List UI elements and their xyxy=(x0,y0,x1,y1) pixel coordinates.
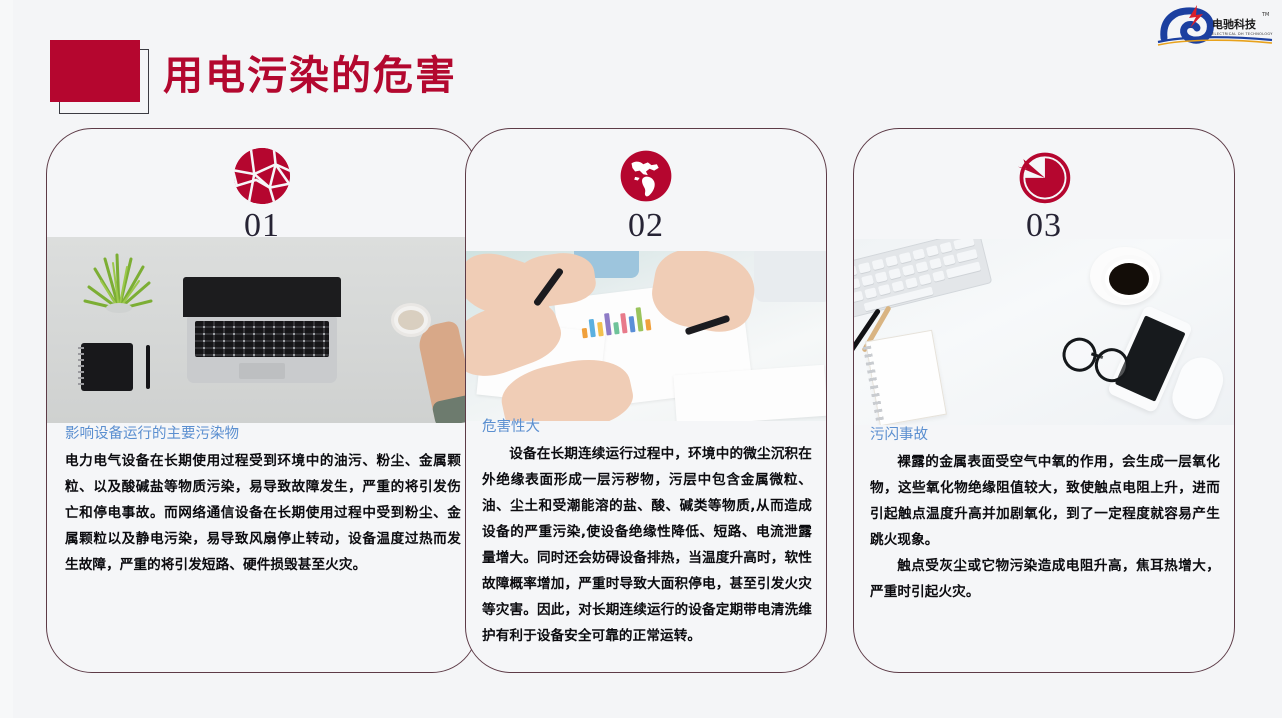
svg-text:ELECTRICAL DH TECHNOLOGY: ELECTRICAL DH TECHNOLOGY xyxy=(1212,32,1273,36)
card-02-number: 02 xyxy=(466,207,826,245)
card-03-subtitle: 污闪事故 xyxy=(870,425,1220,445)
card-03-body: 污闪事故 裸露的金属表面受空气中氧的作用，会生成一层氧化物，这些氧化物绝缘阻值较… xyxy=(854,425,1234,605)
title-accent-square xyxy=(50,40,140,102)
card-03-paragraph-1: 裸露的金属表面受空气中氧的作用，会生成一层氧化物，这些氧化物绝缘阻值较大，致使触… xyxy=(870,449,1220,553)
pen-graphic xyxy=(146,345,150,389)
card-01-subtitle: 影响设备运行的主要污染物 xyxy=(65,424,461,444)
content-card-03[interactable]: 03 xyxy=(853,128,1235,673)
coffee-cup-graphic xyxy=(1090,247,1160,305)
card-01-icon-wrap xyxy=(47,143,477,209)
svg-text:电驰科技: 电驰科技 xyxy=(1212,17,1257,31)
eyeglasses-graphic xyxy=(1059,333,1134,384)
card-02-image xyxy=(466,251,826,421)
pie-wedge-arrow-icon xyxy=(1014,146,1074,206)
card-02-paragraph: 设备在长期连续运行过程中，环境中的微尘沉积在外绝缘表面形成一层污秽物，污层中包含… xyxy=(482,441,812,649)
content-card-02[interactable]: 02 xyxy=(465,128,827,673)
cracked-globe-icon xyxy=(231,145,293,207)
globe-americas-icon xyxy=(617,147,675,205)
laptop-base xyxy=(187,317,337,383)
card-02-subtitle: 危害性大 xyxy=(482,417,812,437)
notepad-graphic xyxy=(865,330,947,425)
card-03-paragraph-2: 触点受灰尘或它物污染造成电阻升高，焦耳热增大，严重时引起火灾。 xyxy=(870,553,1220,605)
card-01-body: 影响设备运行的主要污染物 电力电气设备在长期使用过程受到环境中的油污、粉尘、金属… xyxy=(47,424,477,578)
slide-root: 电驰科技 ELECTRICAL DH TECHNOLOGY TM 用电污染的危害 xyxy=(0,0,1282,718)
notebook-graphic xyxy=(81,343,133,391)
coffee-cup-graphic xyxy=(391,303,431,337)
person-shirt-graphic xyxy=(754,251,826,302)
card-03-image xyxy=(854,239,1234,425)
page-title-block: 用电污染的危害 xyxy=(50,40,570,120)
company-logo: 电驰科技 ELECTRICAL DH TECHNOLOGY TM xyxy=(1156,2,1274,46)
plant-graphic xyxy=(83,251,155,313)
card-01-image xyxy=(47,237,477,423)
laptop-trackpad xyxy=(239,363,285,379)
svg-text:TM: TM xyxy=(1261,12,1269,18)
logo-mark-icon: 电驰科技 ELECTRICAL DH TECHNOLOGY TM xyxy=(1156,2,1274,46)
laptop-screen xyxy=(183,277,341,317)
card-02-icon-wrap xyxy=(466,143,826,209)
page-title: 用电污染的危害 xyxy=(163,36,457,116)
card-01-paragraph: 电力电气设备在长期使用过程受到环境中的油污、粉尘、金属颗粒、以及酸碱盐等物质污染… xyxy=(65,448,461,578)
card-03-icon-wrap xyxy=(854,143,1234,209)
left-edge-strip xyxy=(0,0,13,718)
chart-paper-bottom xyxy=(673,365,826,421)
card-02-body: 危害性大 设备在长期连续运行过程中，环境中的微尘沉积在外绝缘表面形成一层污秽物，… xyxy=(466,417,826,649)
content-card-01[interactable]: 01 xyxy=(46,128,478,673)
laptop-keyboard xyxy=(195,321,329,357)
